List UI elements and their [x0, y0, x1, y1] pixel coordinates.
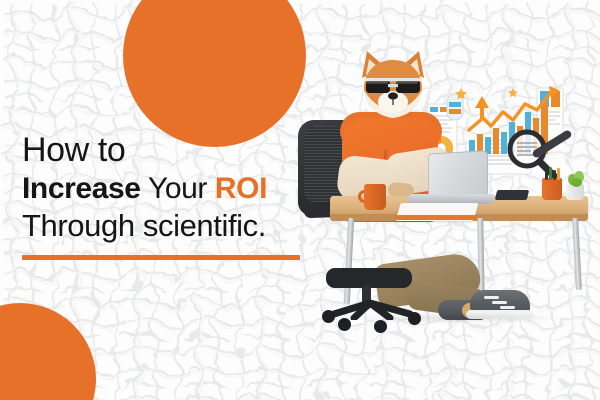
pen-4 — [557, 168, 560, 180]
star-badges — [455, 88, 518, 99]
up-arrow-icon — [475, 96, 489, 118]
sneaker-lace-3 — [500, 306, 515, 309]
floor-shadow — [340, 312, 570, 324]
desk-leg-left — [344, 218, 354, 304]
fox-head-with-sunglasses — [354, 48, 432, 126]
headline-word-your: Your — [148, 172, 207, 205]
pen-3 — [553, 170, 556, 180]
coffee-mug — [364, 184, 386, 210]
headline-line-1: How to — [22, 133, 322, 168]
headline-word-increase: Increase — [22, 172, 141, 205]
smartphone — [495, 190, 529, 200]
sneaker-lace-1 — [484, 296, 499, 299]
pen-2 — [549, 167, 552, 180]
pen-cup — [542, 178, 562, 200]
hero-banner: How to Increase Your ROI Through scienti… — [0, 0, 600, 400]
pen-1 — [545, 169, 548, 180]
desk-leg-right — [572, 218, 582, 290]
illustration — [280, 0, 600, 400]
headline-block: How to Increase Your ROI Through scienti… — [22, 133, 322, 242]
headline-underline-rule — [22, 255, 300, 260]
notepad-orange-edge — [395, 215, 476, 220]
plant-leaf-3 — [571, 178, 582, 187]
headline-line-2: Increase Your ROI — [22, 174, 322, 205]
headline-word-roi: ROI — [215, 172, 267, 205]
chair-caster-1 — [322, 310, 335, 323]
headline-line-3: Through scientific. — [22, 210, 322, 242]
sneaker-lace-2 — [492, 301, 507, 304]
capsule-chart — [447, 94, 463, 120]
